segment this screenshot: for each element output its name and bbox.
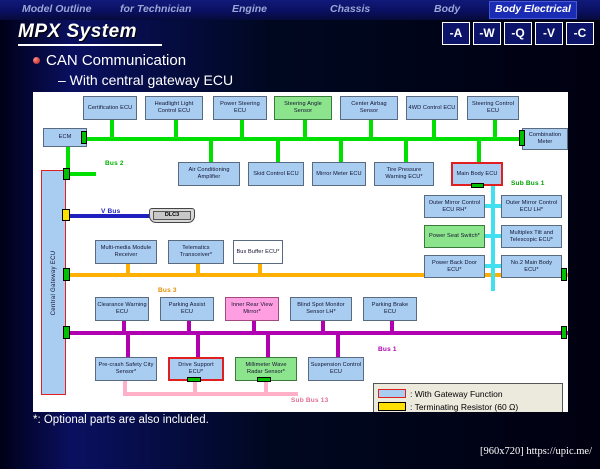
bus2-drop xyxy=(110,120,114,138)
terminator-120-ecm xyxy=(81,131,87,144)
bus2-drop-low xyxy=(404,137,408,162)
bus2-to-gateway xyxy=(66,172,96,176)
bullet-icon xyxy=(33,57,40,64)
node-headlight-light-control-ecu[interactable]: Headlight Light Control ECU xyxy=(145,96,203,120)
bus1-drop-down xyxy=(266,334,270,358)
nav-tab-chassis[interactable]: Chassis xyxy=(330,1,370,19)
terminator-120-combination-meter xyxy=(519,130,525,146)
page-title: MPX System xyxy=(18,21,137,43)
bus-label-bus-3: Bus 3 xyxy=(158,287,177,294)
bus1-drop-down xyxy=(126,334,130,358)
node-skid-control-ecu[interactable]: Skid Control ECU xyxy=(248,162,304,186)
node-telematics-transceiver[interactable]: Telematics Transceiver* xyxy=(168,240,224,264)
subbus13-trunk xyxy=(123,392,298,396)
terminator-120-gateway-bus1 xyxy=(63,326,70,339)
bus2-drop-low xyxy=(276,137,280,162)
node-power-steering-ecu[interactable]: Power Steering ECU xyxy=(213,96,267,120)
node-multiplex-tilt-telescopic-ecu[interactable]: Multiplex Tilt and Telescopic ECU* xyxy=(501,225,562,248)
heading-main: CAN Communication xyxy=(46,52,186,69)
bus1-drop-up xyxy=(122,321,126,332)
node-center-airbag-sensor[interactable]: Center Airbag Sensor xyxy=(340,96,398,120)
subbus13-drop xyxy=(123,381,127,393)
node-air-conditioning-amplifier[interactable]: Air Conditioning Amplifier xyxy=(178,162,240,186)
terminator-120-main-body-ecu xyxy=(471,183,484,188)
node-4wd-control-ecu[interactable]: 4WD Control ECU xyxy=(406,96,458,120)
watermark: [960x720] https://upic.me/ xyxy=(480,446,592,457)
node-parking-brake-ecu[interactable]: Parking Brake ECU xyxy=(363,297,417,321)
bus3-drop xyxy=(126,264,130,274)
code-badge-group: -A-W-Q-V-C xyxy=(442,22,594,45)
node-power-seat-switch[interactable]: Power Seat Switch* xyxy=(424,225,485,248)
title-underline xyxy=(18,44,162,46)
code-badge[interactable]: -Q xyxy=(504,22,532,45)
bus2-drop-low xyxy=(339,137,343,162)
bus2-drop xyxy=(174,120,178,138)
bus1-trunk xyxy=(66,331,568,335)
terminator-120-gateway-bus2 xyxy=(63,168,70,180)
node-steering-control-ecu[interactable]: Steering Control ECU xyxy=(467,96,519,120)
node-bus-buffer-ecu[interactable]: Bus Buffer ECU* xyxy=(233,240,283,264)
node-suspension-control-ecu[interactable]: Suspension Control ECU xyxy=(308,357,364,381)
central-gateway-ecu[interactable]: Central Gateway ECU xyxy=(41,170,66,395)
central-gateway-ecu-label: Central Gateway ECU xyxy=(51,250,57,315)
bus3-drop xyxy=(196,264,200,274)
bus-label-bus-2: Bus 2 xyxy=(105,160,124,167)
bus1-drop-up xyxy=(390,321,394,332)
bus-label-sub-bus-1: Sub Bus 1 xyxy=(511,180,545,187)
node-multi-media-module-receiver[interactable]: Multi-media Module Receiver xyxy=(95,240,157,264)
diagram-panel: Central Gateway ECU DLC3 ECMCertificatio… xyxy=(33,92,568,412)
dlc3-label: DLC3 xyxy=(149,212,195,218)
node-certification-ecu[interactable]: Certification ECU xyxy=(83,96,137,120)
code-badge[interactable]: -W xyxy=(473,22,501,45)
bus2-drop xyxy=(493,120,497,138)
heading-sub: – With central gateway ECU xyxy=(58,72,233,88)
bus-label-v-bus: V Bus xyxy=(101,208,120,215)
node-inner-rear-view-mirror[interactable]: Inner Rear View Mirror* xyxy=(225,297,279,321)
bus1-drop-up xyxy=(252,321,256,332)
node-power-back-door-ecu[interactable]: Power Back Door ECU* xyxy=(424,255,485,278)
node-outer-mirror-control-ecu-rh[interactable]: Outer Mirror Control ECU RH* xyxy=(424,195,485,218)
bus-label-sub-bus-13: Sub Bus 13 xyxy=(291,397,328,404)
subbus13-drop xyxy=(264,381,268,393)
bus2-drop xyxy=(369,120,373,138)
node-parking-assist-ecu[interactable]: Parking Assist ECU xyxy=(160,297,214,321)
legend-box: : With Gateway Function : Terminating Re… xyxy=(373,383,563,412)
bus1-drop-up xyxy=(187,321,191,332)
node-steering-angle-sensor[interactable]: Steering Angle Sensor xyxy=(274,96,332,120)
bus1-drop-down xyxy=(196,334,200,358)
subbus1-riser xyxy=(491,186,495,291)
node-outer-mirror-control-ecu-lh[interactable]: Outer Mirror Control ECU LH* xyxy=(501,195,562,218)
nav-tab-body[interactable]: Body xyxy=(434,1,460,19)
node-pre-crash-safety-city-sensor[interactable]: Pre-crash Safety City Sensor* xyxy=(95,357,157,381)
node-no2-main-body-ecu[interactable]: No.2 Main Body ECU* xyxy=(501,255,562,278)
terminator-60-gateway-vbus xyxy=(62,209,70,221)
bus2-drop xyxy=(303,120,307,138)
legend-swatch-gateway xyxy=(378,389,406,398)
node-blind-spot-monitor-sensor-lh[interactable]: Blind Spot Monitor Sensor LH* xyxy=(290,297,352,321)
code-badge[interactable]: -C xyxy=(566,22,594,45)
legend-row: : With Gateway Function xyxy=(378,387,558,400)
slide-page: Model Outlinefor TechnicianEngineChassis… xyxy=(0,0,600,469)
bus2-drop xyxy=(432,120,436,138)
terminator-120-drive-support-ecu xyxy=(187,377,201,382)
code-badge[interactable]: -A xyxy=(442,22,470,45)
bus3-drop xyxy=(258,264,262,274)
nav-tab-engine[interactable]: Engine xyxy=(232,1,267,19)
bus2-drop-low xyxy=(209,137,213,162)
legend-swatch-term60 xyxy=(378,402,406,411)
legend-label: : Terminating Resistor (60 Ω) xyxy=(410,402,518,412)
bus-label-bus-1: Bus 1 xyxy=(378,346,397,353)
subbus13-drop xyxy=(193,381,197,393)
footnote: *: Optional parts are also included. xyxy=(33,414,209,426)
terminator-120-bus1-right xyxy=(561,326,567,339)
node-tire-pressure-warning-ecu[interactable]: Tire Pressure Warning ECU* xyxy=(374,162,434,186)
nav-tab-body-electrical[interactable]: Body Electrical xyxy=(489,1,577,19)
code-badge[interactable]: -V xyxy=(535,22,563,45)
legend-row: : Terminating Resistor (60 Ω) xyxy=(378,400,558,412)
node-mirror-meter-ecu[interactable]: Mirror Meter ECU xyxy=(312,162,366,186)
bus2-drop xyxy=(240,120,244,138)
nav-tab-for-technician[interactable]: for Technician xyxy=(120,1,191,19)
terminator-120-bus3-right xyxy=(561,268,567,281)
terminator-120-millimeter-wave-radar xyxy=(257,377,271,382)
bus1-drop-up xyxy=(321,321,325,332)
nav-tab-model-outline[interactable]: Model Outline xyxy=(22,1,91,19)
legend-label: : With Gateway Function xyxy=(410,389,503,399)
bus1-drop-down xyxy=(336,334,340,358)
bus2-drop-low xyxy=(477,137,481,162)
node-clearance-warning-ecu[interactable]: Clearance Warning ECU xyxy=(95,297,149,321)
terminator-120-gateway-bus3 xyxy=(63,268,70,281)
node-combination-meter[interactable]: Combination Meter xyxy=(522,128,568,150)
dlc3-connector[interactable]: DLC3 xyxy=(149,208,195,223)
